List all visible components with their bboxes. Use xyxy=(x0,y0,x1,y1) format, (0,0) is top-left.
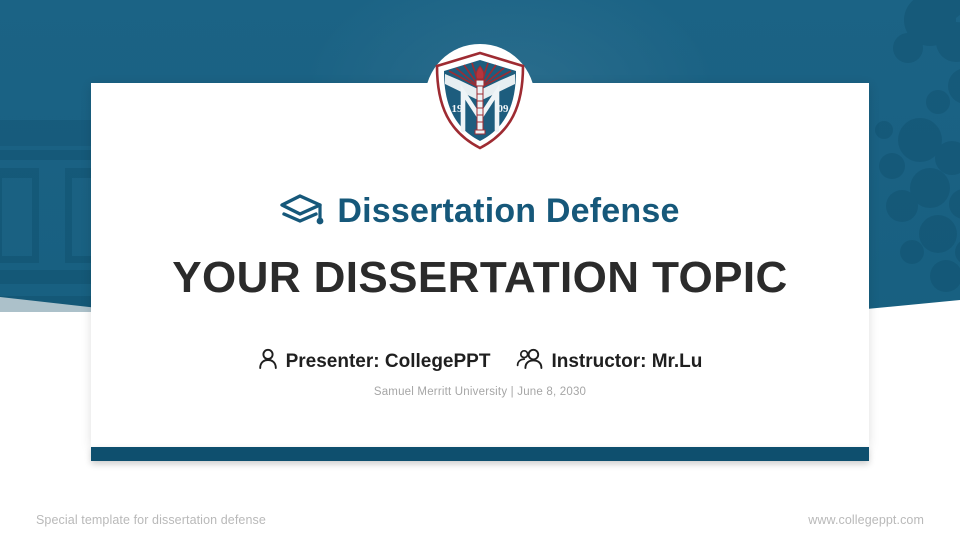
university-date-line: Samuel Merritt University | June 8, 2030 xyxy=(91,386,869,398)
card-accent-bar xyxy=(91,447,869,461)
subtitle-text: Dissertation Defense xyxy=(337,194,679,228)
slide-canvas: 19 09 Dissertation Defense YOUR DISSERTA… xyxy=(0,0,960,540)
instructor-label: Instructor: Mr.Lu xyxy=(551,352,702,371)
university-crest: 19 09 xyxy=(425,44,535,156)
crest-year-left: 19 xyxy=(452,103,464,115)
people-group-icon xyxy=(516,348,543,375)
footer-left-text: Special template for dissertation defens… xyxy=(36,513,266,527)
people-row: Presenter: CollegePPT Instructor: Mr.Lu xyxy=(91,348,869,375)
instructor-group: Instructor: Mr.Lu xyxy=(516,348,702,375)
footer-right-link[interactable]: www.collegeppt.com xyxy=(808,513,924,527)
presenter-label: Presenter: CollegePPT xyxy=(286,352,491,371)
page-title: YOUR DISSERTATION TOPIC xyxy=(91,256,869,300)
graduation-cap-icon xyxy=(280,194,324,228)
crest-year-right: 09 xyxy=(498,103,510,115)
subtitle-row: Dissertation Defense xyxy=(91,194,869,228)
person-icon xyxy=(258,348,278,375)
presenter-group: Presenter: CollegePPT xyxy=(258,348,491,375)
